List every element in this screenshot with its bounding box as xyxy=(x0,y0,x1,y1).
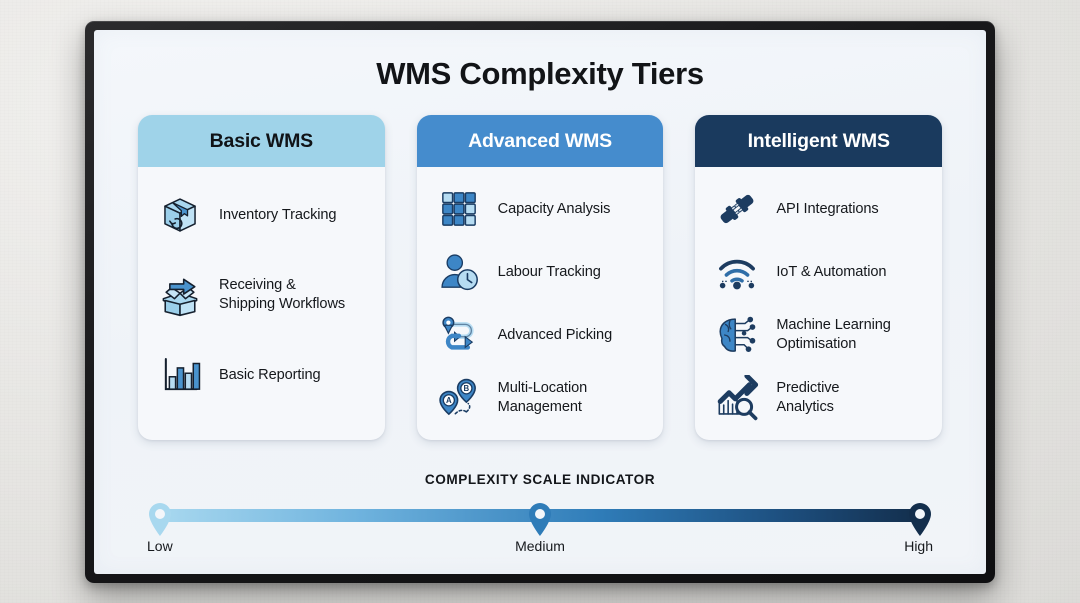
scale-labels: Low Medium High xyxy=(142,538,938,558)
tier-card-intelligent-title: Intelligent WMS xyxy=(695,115,942,167)
receiving-shipping-box-arrow-icon xyxy=(154,269,206,321)
scale-label-low: Low xyxy=(147,538,173,554)
scale-bar-area[interactable]: Low Medium High xyxy=(142,502,938,548)
tier-card-basic-features: Inventory Tracking xyxy=(138,167,385,440)
feature-label: Multi-Location Management xyxy=(498,379,587,416)
feature-row[interactable]: Receiving & Shipping Workflows xyxy=(154,269,371,321)
feature-label: API Integrations xyxy=(776,200,878,219)
multi-location-pins-icon: B A xyxy=(433,372,485,424)
feature-label: Capacity Analysis xyxy=(498,200,611,219)
tier-card-advanced[interactable]: Advanced WMS xyxy=(417,115,664,440)
grid-squares-icon xyxy=(433,183,485,235)
tier-cards-row: Basic WMS xyxy=(94,115,986,440)
scale-title: COMPLEXITY SCALE INDICATOR xyxy=(142,472,938,487)
package-box-icon xyxy=(154,189,206,241)
poster-canvas: WMS Complexity Tiers Basic WMS xyxy=(94,30,986,574)
feature-row[interactable]: Machine Learning Optimisation xyxy=(711,309,928,361)
complexity-scale-indicator: COMPLEXITY SCALE INDICATOR xyxy=(94,472,986,548)
poster-frame: WMS Complexity Tiers Basic WMS xyxy=(85,21,995,583)
tier-card-basic-title: Basic WMS xyxy=(138,115,385,167)
feature-label: Receiving & Shipping Workflows xyxy=(219,276,345,313)
person-clock-icon xyxy=(433,246,485,298)
bar-chart-icon xyxy=(154,349,206,401)
tier-card-advanced-title: Advanced WMS xyxy=(417,115,664,167)
svg-text:A: A xyxy=(446,396,452,405)
scale-marker-high-icon[interactable] xyxy=(907,502,934,538)
scale-marker-medium-icon[interactable] xyxy=(527,502,554,538)
feature-label: Basic Reporting xyxy=(219,366,321,385)
scale-marker-low-icon[interactable] xyxy=(147,502,174,538)
feature-row[interactable]: API Integrations xyxy=(711,183,928,235)
tier-card-intelligent-features: API Integrations xyxy=(695,167,942,440)
feature-label: IoT & Automation xyxy=(776,263,886,282)
tier-card-basic[interactable]: Basic WMS xyxy=(138,115,385,440)
feature-row[interactable]: Advanced Picking xyxy=(433,309,650,361)
brain-circuit-icon xyxy=(711,309,763,361)
feature-row[interactable]: Capacity Analysis xyxy=(433,183,650,235)
feature-label: Predictive Analytics xyxy=(776,379,839,416)
feature-label: Inventory Tracking xyxy=(219,206,336,225)
feature-row[interactable]: IoT & Automation xyxy=(711,246,928,298)
tier-card-advanced-features: Capacity Analysis Labour Tracking xyxy=(417,167,664,440)
wifi-iot-icon xyxy=(711,246,763,298)
svg-text:B: B xyxy=(463,384,469,393)
tier-card-intelligent[interactable]: Intelligent WMS xyxy=(695,115,942,440)
page-title: WMS Complexity Tiers xyxy=(94,56,986,92)
scale-label-medium: Medium xyxy=(515,538,565,554)
feature-row[interactable]: B A Multi-Location Management xyxy=(433,372,650,424)
feature-label: Advanced Picking xyxy=(498,326,612,345)
feature-row[interactable]: Basic Reporting xyxy=(154,349,371,401)
scale-label-high: High xyxy=(904,538,933,554)
trend-arrow-magnifier-icon xyxy=(711,372,763,424)
feature-row[interactable]: Inventory Tracking xyxy=(154,189,371,241)
feature-row[interactable]: Predictive Analytics xyxy=(711,372,928,424)
feature-label: Machine Learning Optimisation xyxy=(776,316,890,353)
picking-route-arrow-icon xyxy=(433,309,485,361)
plug-connector-icon xyxy=(711,183,763,235)
feature-label: Labour Tracking xyxy=(498,263,601,282)
feature-row[interactable]: Labour Tracking xyxy=(433,246,650,298)
